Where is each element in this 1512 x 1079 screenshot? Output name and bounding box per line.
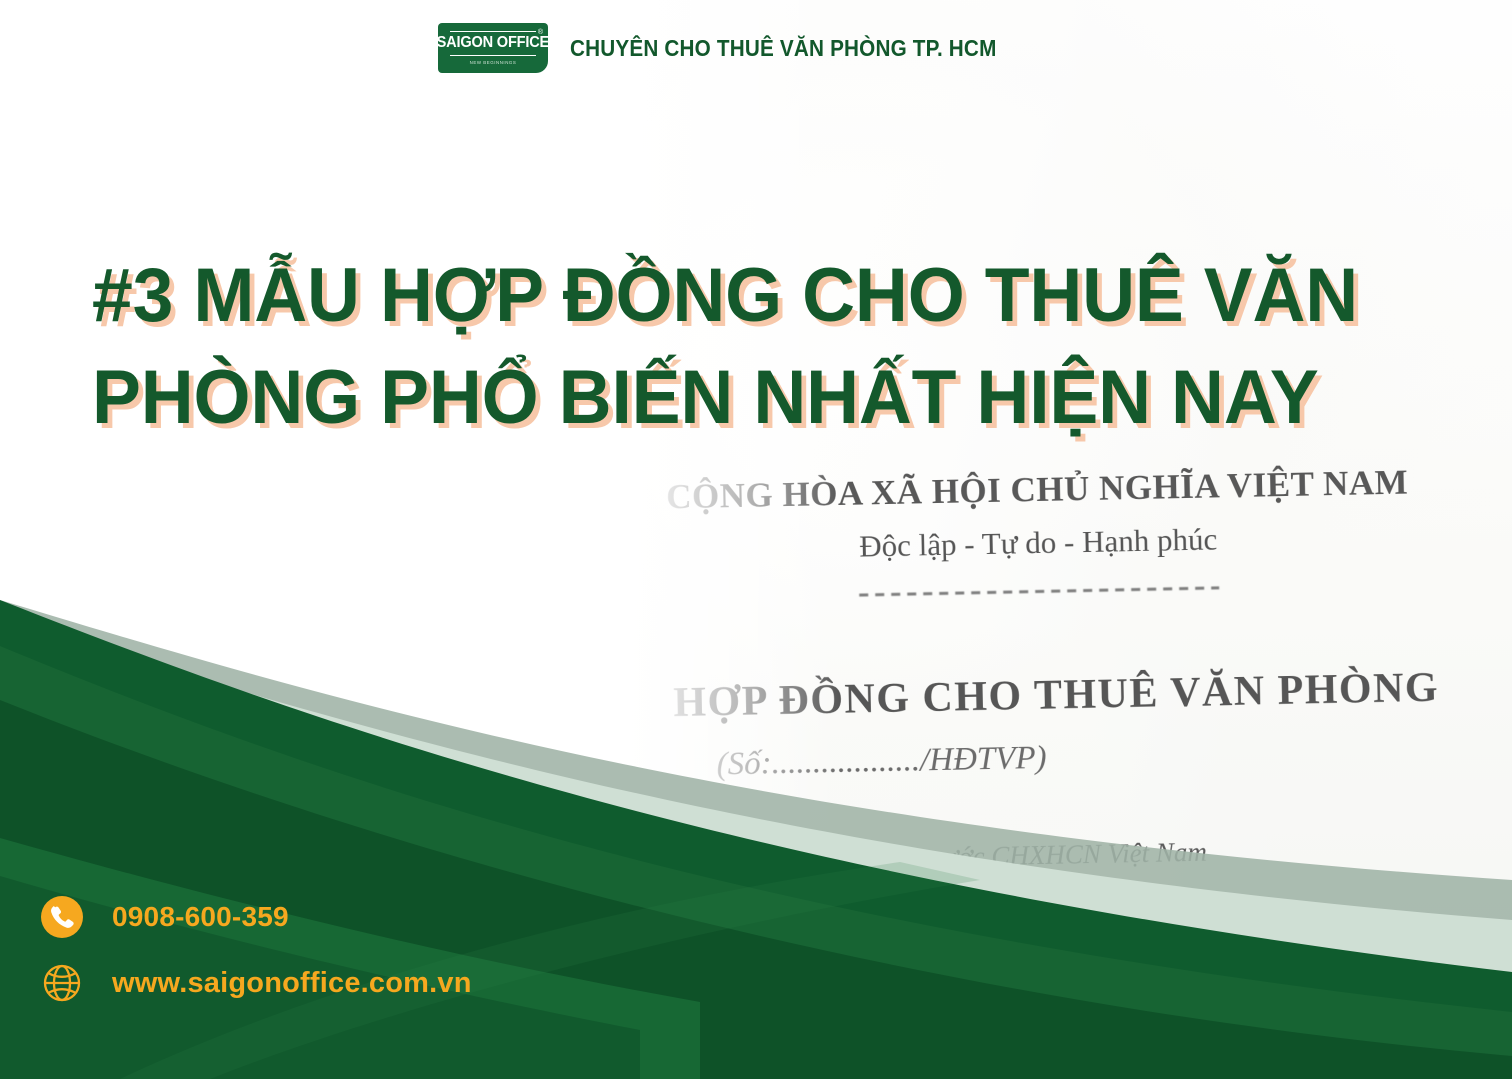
document-law-reference-line-1: ...sự số 33/2005 QH 11 của nước CHXHCN V… <box>568 830 1512 880</box>
document-nation-heading: CỘNG HÒA XÃ HỘI CHỦ NGHĨA VIỆT NAM <box>561 460 1512 519</box>
poster-headline: #3 MẪU HỢP ĐỒNG CHO THUÊ VĂN PHÒNG PHỔ B… <box>92 245 1272 449</box>
globe-icon <box>40 961 84 1005</box>
header-bar: ® SAIGON OFFICE NEW BEGINNINGS CHUYÊN CH… <box>0 0 1512 96</box>
logo-wordmark: SAIGON OFFICE <box>437 35 550 51</box>
poster-canvas: CỘNG HÒA XÃ HỘI CHỦ NGHĨA VIỆT NAM Độc l… <box>0 0 1512 1079</box>
logo-rule-top <box>450 31 536 33</box>
document-contract-number: (Số:................../HĐTVP) <box>566 730 1512 786</box>
document-motto: Độc lập - Tự do - Hạnh phúc <box>562 515 1512 570</box>
document-divider <box>859 586 1219 596</box>
contact-website-row[interactable]: www.saigonoffice.com.vn <box>40 961 472 1005</box>
logo-tagline-wrap: NEW BEGINNINGS <box>450 55 536 66</box>
contact-block: 0908-600-359 www.saigonoffice.com.vn <box>40 895 472 1005</box>
logo-rule-bottom <box>450 55 536 57</box>
contract-document-image: CỘNG HÒA XÃ HỘI CHỦ NGHĨA VIỆT NAM Độc l… <box>560 0 1512 1079</box>
website-url[interactable]: www.saigonoffice.com.vn <box>112 967 472 1000</box>
document-law-reference-line-2: ...QH11 ngày 14/6/2005 <box>569 878 1512 928</box>
headline-line-2: PHÒNG PHỔ BIẾN NHẤT HIỆN NAY <box>92 347 1231 449</box>
saigon-office-logo[interactable]: ® SAIGON OFFICE NEW BEGINNINGS <box>438 23 548 73</box>
phone-number[interactable]: 0908-600-359 <box>112 901 289 933</box>
contact-phone-row[interactable]: 0908-600-359 <box>40 895 472 939</box>
logo-tagline: NEW BEGINNINGS <box>470 61 517 65</box>
document-text-block: CỘNG HÒA XÃ HỘI CHỦ NGHĨA VIỆT NAM Độc l… <box>560 0 1512 1079</box>
document-contract-title: HỢP ĐỒNG CHO THUÊ VĂN PHÒNG <box>565 662 1512 729</box>
phone-icon <box>40 895 84 939</box>
header-tagline: CHUYÊN CHO THUÊ VĂN PHÒNG TP. HCM <box>570 35 997 62</box>
headline-line-1: #3 MẪU HỢP ĐỒNG CHO THUÊ VĂN <box>92 245 1231 347</box>
